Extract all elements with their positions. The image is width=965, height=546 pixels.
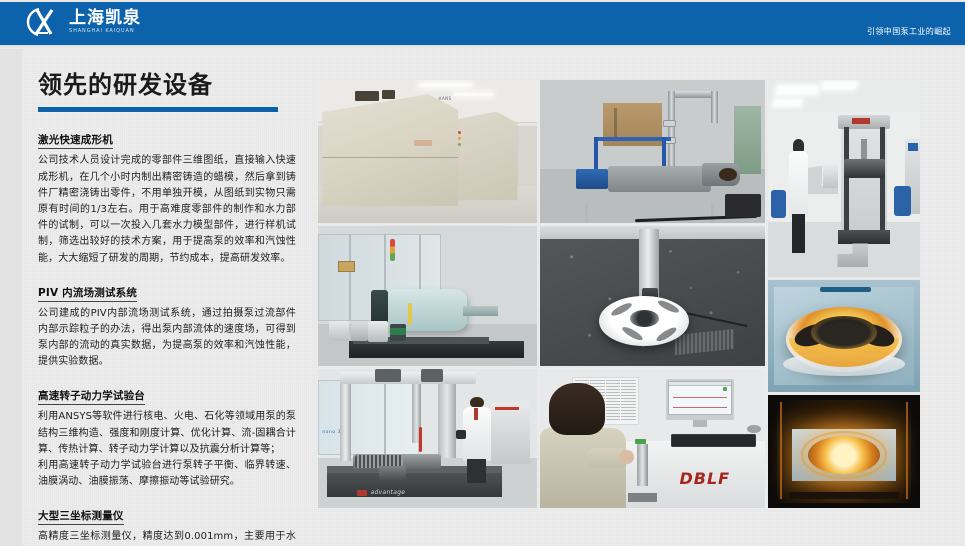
header-top-rule — [0, 0, 965, 2]
section-large-cmm: 大型三坐标测量仪 高精度三坐标测量仪，精度达到0.001mm，主要用于水力部件的… — [38, 504, 296, 546]
photo-rotor-dynamics-test-bench[interactable] — [318, 226, 537, 366]
photo-piv-test-loop-rig[interactable] — [540, 80, 765, 223]
photo-laser-rapid-prototyping-machines[interactable]: HANS — [318, 80, 537, 223]
photo-dynamic-balancing-machine-operator[interactable]: DBLF — [540, 369, 765, 508]
section-title: 高速转子动力学试验台 — [38, 388, 145, 405]
section-body: 公司建成的PIV内部流场测试系统，通过拍摄泵过流部件内部示踪粒子的办法，得出泵内… — [38, 306, 296, 371]
section-body: 高精度三坐标测量仪，精度达到0.001mm，主要用于水力部件的测绘、模具和键等部… — [38, 529, 296, 546]
photo-cmm-impeller-measurement[interactable] — [540, 226, 765, 366]
kaiquan-mark-icon — [25, 6, 63, 38]
header-shadow — [0, 45, 965, 49]
site-header: 上海凯泉 SHANGHAI KAIQUAN 引领中国泵工业的崛起 — [0, 0, 965, 45]
page-title: 领先的研发设备 — [38, 72, 296, 98]
machine-brand-text: HANS — [438, 96, 451, 101]
section-body: 利用ANSYS等软件进行核电、火电、石化等领域用泵的泵结构三维构造、强度和刚度计… — [38, 409, 296, 490]
title-underline-rule — [38, 107, 278, 112]
photo-glowing-casting-ring[interactable] — [768, 280, 920, 392]
equipment-photo-gallery: HANS — [318, 80, 918, 508]
left-margin-strip — [0, 49, 22, 546]
photo-universal-testing-machine-lab[interactable] — [768, 80, 920, 277]
section-title: 大型三坐标测量仪 — [38, 508, 124, 525]
section-body: 公司技术人员设计完成的零部件三维图纸，直接输入快速成形机，在几个小时内制出精密铸… — [38, 153, 296, 266]
balancing-machine-brand-text: DBLF — [680, 469, 731, 488]
photo-cmm-shaft-inspection[interactable]: nano 3D advantage — [318, 369, 537, 508]
content-text-column: 领先的研发设备 激光快速成形机 公司技术人员设计完成的零部件三维图纸，直接输入快… — [38, 72, 296, 546]
logo-english-name: SHANGHAI KAIQUAN — [69, 29, 141, 34]
header-slogan: 引领中国泵工业的崛起 — [867, 26, 951, 37]
logo-chinese-name: 上海凯泉 — [69, 10, 141, 27]
section-high-speed-rotor-dynamics-test-bench: 高速转子动力学试验台 利用ANSYS等软件进行核电、火电、石化等领域用泵的泵结构… — [38, 384, 296, 490]
company-logo[interactable]: 上海凯泉 SHANGHAI KAIQUAN — [25, 5, 141, 39]
section-laser-rapid-prototyping: 激光快速成形机 公司技术人员设计完成的零部件三维图纸，直接输入快速成形机，在几个… — [38, 128, 296, 266]
section-piv-flow-field-test-system: PIV 内流场测试系统 公司建成的PIV内部流场测试系统，通过拍摄泵过流部件内部… — [38, 281, 296, 371]
cmm-brand-text: advantage — [371, 489, 406, 496]
photo-furnace-glow-mold[interactable] — [768, 395, 920, 508]
section-title: PIV 内流场测试系统 — [38, 285, 137, 302]
section-title: 激光快速成形机 — [38, 132, 113, 149]
